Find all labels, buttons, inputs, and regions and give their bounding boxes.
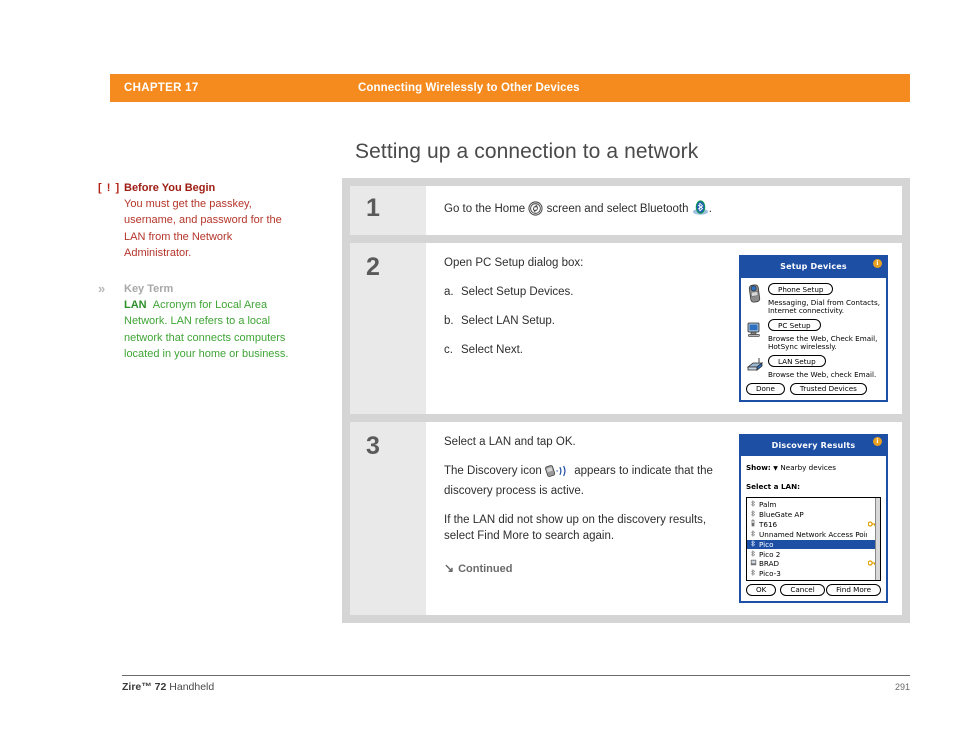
step-2-text: Open PC Setup dialog box: a. Select Setu… <box>444 255 739 402</box>
ok-button[interactable]: OK <box>746 584 776 596</box>
key-term-heading-row: » Key Term <box>98 281 298 297</box>
phone-setup-button[interactable]: Phone Setup <box>768 283 833 295</box>
step-3-para-3: If the LAN did not show up on the discov… <box>444 512 739 544</box>
setup-devices-footer: Done Trusted Devices <box>746 383 881 395</box>
chapter-label: CHAPTER 17 <box>124 82 199 94</box>
page-number: 291 <box>895 682 910 692</box>
step-content: Select a LAN and tap OK. The Discovery i… <box>426 422 902 615</box>
device-name: Palm <box>759 500 867 509</box>
before-you-begin-heading: Before You Begin <box>124 182 215 194</box>
device-name: Pico-3 <box>759 569 867 578</box>
list-scrollbar[interactable] <box>875 498 880 579</box>
product-type: Handheld <box>169 681 214 693</box>
substep-b: b. Select LAN Setup. <box>444 313 739 329</box>
substep-a-label: a. <box>444 284 461 300</box>
discovery-icon <box>545 464 571 483</box>
trusted-devices-button[interactable]: Trusted Devices <box>790 383 867 395</box>
step-number: 2 <box>350 243 426 414</box>
footer-product-label: Zire™ 72 Handheld <box>122 681 214 693</box>
substep-c-label: c. <box>444 342 461 358</box>
step-1-text-before: Go to the Home <box>444 203 525 215</box>
info-icon[interactable]: i <box>873 259 882 268</box>
bluetooth-icon <box>692 200 709 221</box>
product-name: Zire™ 72 <box>122 681 166 693</box>
continued-note: ↘Continued <box>444 560 739 577</box>
before-you-begin-heading-row: [ ! ] Before You Begin <box>98 180 298 196</box>
info-icon[interactable]: i <box>873 437 882 446</box>
substep-c: c. Select Next. <box>444 342 739 358</box>
show-value: Nearby devices <box>780 463 836 472</box>
setup-devices-item-phone: Phone Setup Messaging, Dial from Contact… <box>746 282 881 316</box>
phone-icon <box>746 282 768 316</box>
list-item[interactable]: Palm <box>747 499 880 509</box>
warning-marker-icon: [ ! ] <box>98 180 124 196</box>
continued-arrow-icon: ↘ <box>444 560 454 576</box>
bluetooth-device-icon <box>750 530 759 539</box>
step-3-text: Select a LAN and tap OK. The Discovery i… <box>444 434 739 603</box>
step-number: 3 <box>350 422 426 615</box>
device-name: T616 <box>759 520 867 529</box>
cancel-button[interactable]: Cancel <box>780 584 824 596</box>
bluetooth-device-icon <box>750 569 759 578</box>
key-term-word: LAN <box>124 299 147 311</box>
lan-setup-button[interactable]: LAN Setup <box>768 355 826 367</box>
page-title: Setting up a connection to a network <box>355 140 698 164</box>
bluetooth-device-icon <box>750 500 759 509</box>
substep-a: a. Select Setup Devices. <box>444 284 739 300</box>
list-item[interactable]: Unnamed Network Access Point <box>747 530 880 540</box>
double-chevron-icon: » <box>98 281 124 297</box>
home-icon <box>528 201 543 221</box>
step-3-para-1: Select a LAN and tap OK. <box>444 434 739 450</box>
discovery-results-title: Discovery Results <box>772 441 856 450</box>
bluetooth-device-icon <box>750 510 759 519</box>
key-term-heading: Key Term <box>124 283 173 295</box>
find-more-button[interactable]: Find More <box>826 584 881 596</box>
step-row: 3 Select a LAN and tap OK. The Discovery… <box>350 422 902 615</box>
chapter-header-title: Connecting Wirelessly to Other Devices <box>358 82 580 94</box>
steps-table: 1 Go to the Home screen and select Bluet… <box>342 178 910 623</box>
bluetooth-device-icon <box>750 540 759 549</box>
step-row: 1 Go to the Home screen and select Bluet… <box>350 186 902 235</box>
step-content: Go to the Home screen and select Bluetoo… <box>426 186 902 235</box>
lan-setup-description: Browse the Web, check Email. <box>768 371 881 380</box>
done-button[interactable]: Done <box>746 383 785 395</box>
step-row: 2 Open PC Setup dialog box: a. Select Se… <box>350 243 902 414</box>
substep-c-text: Select Next. <box>461 342 523 358</box>
step-number: 1 <box>350 186 426 235</box>
show-filter-row[interactable]: Show: ▼ Nearby devices <box>746 460 881 477</box>
phone-device-icon <box>750 519 759 529</box>
setup-devices-lan-right: LAN Setup Browse the Web, check Email. <box>768 354 881 380</box>
pc-setup-description: Browse the Web, Check Email, HotSync wir… <box>768 335 881 352</box>
step-content: Open PC Setup dialog box: a. Select Setu… <box>426 243 902 414</box>
sidebar: [ ! ] Before You Begin You must get the … <box>98 180 298 376</box>
device-name: Unnamed Network Access Point <box>759 530 867 539</box>
select-a-lan-label: Select a LAN: <box>746 479 881 495</box>
step-1-text: Go to the Home screen and select Bluetoo… <box>444 200 888 221</box>
substep-a-text: Select Setup Devices. <box>461 284 574 300</box>
substep-b-text: Select LAN Setup. <box>461 313 555 329</box>
discovery-results-dialog: Discovery Results i Show: ▼ Nearby devic… <box>739 434 888 603</box>
chapter-header-bar: CHAPTER 17 Connecting Wirelessly to Othe… <box>110 74 910 102</box>
pc-setup-button[interactable]: PC Setup <box>768 319 821 331</box>
device-name: Pico <box>759 540 867 549</box>
sidebar-key-term: » Key Term LAN Acronym for Local Area Ne… <box>98 281 298 362</box>
list-item[interactable]: BRAD <box>747 559 880 569</box>
step-1-text-mid: screen and select Bluetooth <box>547 203 689 215</box>
list-item[interactable]: Pico 2 <box>747 549 880 559</box>
step-2-intro: Open PC Setup dialog box: <box>444 255 739 271</box>
setup-devices-title: Setup Devices <box>780 262 847 271</box>
device-list[interactable]: Palm BlueGate AP <box>746 497 881 580</box>
setup-devices-phone-right: Phone Setup Messaging, Dial from Contact… <box>768 282 881 316</box>
substep-b-label: b. <box>444 313 461 329</box>
sidebar-before-you-begin: [ ! ] Before You Begin You must get the … <box>98 180 298 261</box>
before-you-begin-body: You must get the passkey, username, and … <box>98 196 298 261</box>
key-term-body: LAN Acronym for Local Area Network. LAN … <box>98 297 298 362</box>
setup-devices-item-pc: PC Setup Browse the Web, Check Email, Ho… <box>746 318 881 352</box>
key-term-definition: Acronym for Local Area Network. LAN refe… <box>124 299 288 360</box>
setup-devices-pc-right: PC Setup Browse the Web, Check Email, Ho… <box>768 318 881 352</box>
desktop-computer-icon <box>746 318 768 352</box>
list-item-selected[interactable]: Pico <box>747 540 880 550</box>
footer-divider <box>122 675 910 676</box>
device-name: Pico 2 <box>759 550 867 559</box>
list-item[interactable]: T616 <box>747 519 880 530</box>
list-item[interactable]: BlueGate AP <box>747 509 880 519</box>
device-name: BRAD <box>759 559 867 568</box>
discovery-results-titlebar: Discovery Results i <box>741 436 886 457</box>
continued-label: Continued <box>458 563 512 575</box>
discovery-results-body: Show: ▼ Nearby devices Select a LAN: Pal… <box>741 456 886 600</box>
step-3-para-2: The Discovery icon appears to indicate t… <box>444 463 739 499</box>
setup-devices-body: Phone Setup Messaging, Dial from Contact… <box>741 278 886 400</box>
chevron-down-icon[interactable]: ▼ <box>773 465 778 472</box>
router-icon <box>746 354 768 380</box>
show-label: Show: <box>746 463 771 472</box>
discovery-results-footer: OK Cancel Find More <box>746 584 881 596</box>
discovery-lead-text: The Discovery icon <box>444 465 542 477</box>
list-item[interactable]: Pico-3 <box>747 569 880 579</box>
setup-devices-dialog: Setup Devices i Phone Setu <box>739 255 888 402</box>
step-1-text-after: . <box>709 203 712 215</box>
bluetooth-device-icon <box>750 550 759 559</box>
device-name: BlueGate AP <box>759 510 867 519</box>
setup-devices-titlebar: Setup Devices i <box>741 257 886 278</box>
computer-device-icon <box>750 559 759 568</box>
phone-setup-description: Messaging, Dial from Contacts, Internet … <box>768 299 881 316</box>
setup-devices-item-lan: LAN Setup Browse the Web, check Email. <box>746 354 881 380</box>
